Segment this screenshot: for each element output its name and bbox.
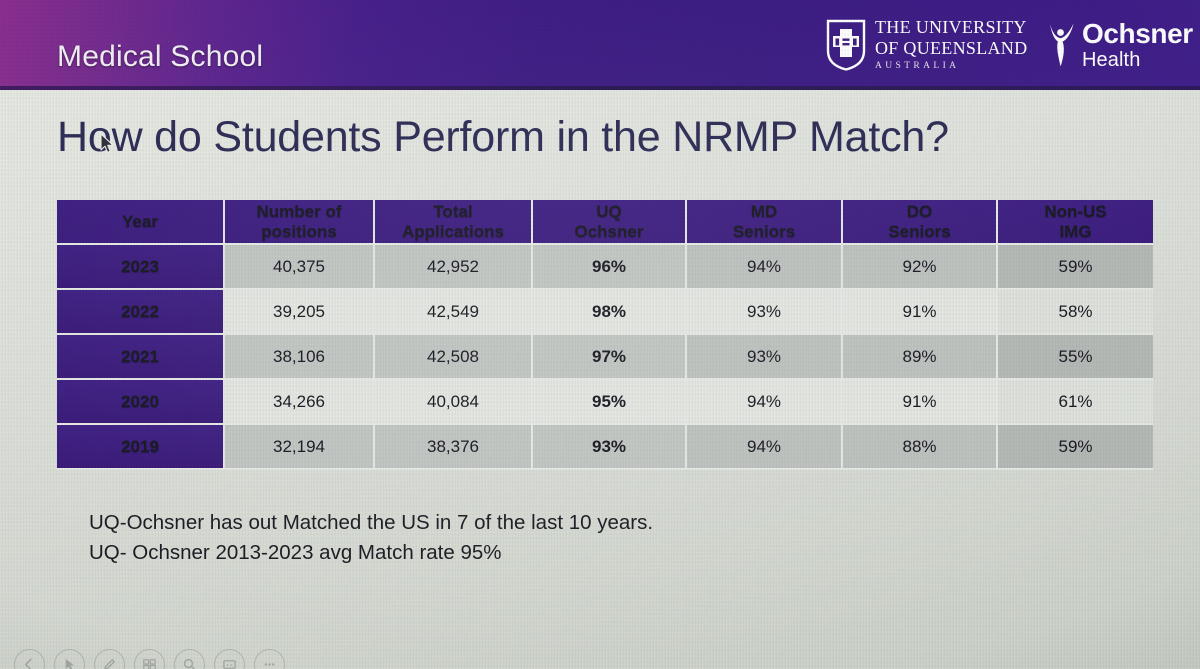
column-header-md-seniors-line2: Seniors — [691, 222, 837, 241]
table-row: 2020 34,266 40,084 95% 94% 91% 61% — [57, 380, 1153, 425]
column-header-uq-ochsner-line1: UQ — [537, 202, 681, 221]
ochsner-figure-icon — [1048, 22, 1076, 68]
caption-icon[interactable] — [214, 649, 245, 669]
column-header-non-us-img: Non-US IMG — [998, 200, 1153, 245]
cell-md-seniors: 94% — [687, 245, 843, 290]
ochsner-wordmark: Ochsner Health — [1082, 20, 1193, 70]
cell-year: 2022 — [57, 290, 225, 335]
column-header-uq-ochsner-line2: Ochsner — [537, 222, 681, 241]
presenter-toolbar[interactable] — [14, 649, 285, 669]
cell-non-us-img: 55% — [998, 335, 1153, 380]
column-header-do-seniors: DO Seniors — [843, 200, 998, 245]
cell-year: 2021 — [57, 335, 225, 380]
cell-do-seniors: 88% — [843, 425, 998, 470]
table-row: 2022 39,205 42,549 98% 93% 91% 58% — [57, 290, 1153, 335]
table-row: 2023 40,375 42,952 96% 94% 92% 59% — [57, 245, 1153, 290]
column-header-year-label: Year — [61, 212, 219, 231]
column-header-non-us-img-line1: Non-US — [1002, 202, 1149, 221]
cell-positions: 39,205 — [225, 290, 375, 335]
cell-do-seniors: 91% — [843, 380, 998, 425]
pen-icon[interactable] — [94, 649, 125, 669]
column-header-positions-line2: positions — [229, 222, 369, 241]
ochsner-logo: Ochsner Health — [1048, 20, 1193, 70]
cell-do-seniors: 89% — [843, 335, 998, 380]
table-row: 2021 38,106 42,508 97% 93% 89% 55% — [57, 335, 1153, 380]
column-header-applications: Total Applications — [375, 200, 533, 245]
uq-wordmark: THE UNIVERSITY OF QUEENSLAND AUSTRALIA — [875, 18, 1027, 72]
laser-pointer-icon[interactable] — [54, 649, 85, 669]
more-options-icon[interactable] — [254, 649, 285, 669]
cell-uq-ochsner: 97% — [533, 335, 687, 380]
footnote-line-1: UQ-Ochsner has out Matched the US in 7 o… — [89, 508, 653, 538]
slide-body: How do Students Perform in the NRMP Matc… — [0, 90, 1200, 669]
mouse-cursor-icon — [100, 133, 115, 155]
cell-uq-ochsner: 95% — [533, 380, 687, 425]
banner-title: Medical School — [57, 40, 263, 74]
table-row: 2019 32,194 38,376 93% 94% 88% 59% — [57, 425, 1153, 470]
cell-md-seniors: 94% — [687, 380, 843, 425]
cell-do-seniors: 91% — [843, 290, 998, 335]
column-header-do-seniors-line2: Seniors — [847, 222, 992, 241]
uq-country-label: AUSTRALIA — [875, 62, 1027, 72]
column-header-applications-line2: Applications — [379, 222, 527, 241]
cell-positions: 38,106 — [225, 335, 375, 380]
cell-positions: 34,266 — [225, 380, 375, 425]
cell-non-us-img: 58% — [998, 290, 1153, 335]
footnotes: UQ-Ochsner has out Matched the US in 7 o… — [89, 508, 653, 569]
cell-non-us-img: 59% — [998, 425, 1153, 470]
cell-non-us-img: 61% — [998, 380, 1153, 425]
column-header-positions-line1: Number of — [229, 202, 369, 221]
cell-uq-ochsner: 98% — [533, 290, 687, 335]
cell-positions: 32,194 — [225, 425, 375, 470]
uq-logo: THE UNIVERSITY OF QUEENSLAND AUSTRALIA — [826, 18, 1027, 72]
cell-uq-ochsner: 96% — [533, 245, 687, 290]
uq-line-1: THE UNIVERSITY — [875, 18, 1027, 36]
cell-applications: 42,952 — [375, 245, 533, 290]
zoom-icon[interactable] — [174, 649, 205, 669]
ochsner-subname: Health — [1082, 50, 1193, 70]
cell-md-seniors: 94% — [687, 425, 843, 470]
cell-positions: 40,375 — [225, 245, 375, 290]
nrmp-match-table: Year Number of positions Total Applicati… — [57, 200, 1153, 470]
column-header-uq-ochsner: UQ Ochsner — [533, 200, 687, 245]
column-header-positions: Number of positions — [225, 200, 375, 245]
cell-uq-ochsner: 93% — [533, 425, 687, 470]
uq-line-2: OF QUEENSLAND — [875, 39, 1027, 57]
slide-grid-icon[interactable] — [134, 649, 165, 669]
cell-applications: 42,549 — [375, 290, 533, 335]
uq-shield-icon — [826, 19, 866, 71]
cell-do-seniors: 92% — [843, 245, 998, 290]
cell-year: 2019 — [57, 425, 225, 470]
column-header-year: Year — [57, 200, 225, 245]
cell-md-seniors: 93% — [687, 290, 843, 335]
ochsner-name: Ochsner — [1082, 20, 1193, 48]
previous-slide-icon[interactable] — [14, 649, 45, 669]
cell-applications: 42,508 — [375, 335, 533, 380]
cell-year: 2020 — [57, 380, 225, 425]
table-header-row: Year Number of positions Total Applicati… — [57, 200, 1153, 245]
page-title: How do Students Perform in the NRMP Matc… — [57, 113, 949, 162]
cell-year: 2023 — [57, 245, 225, 290]
cell-applications: 40,084 — [375, 380, 533, 425]
column-header-applications-line1: Total — [379, 202, 527, 221]
column-header-md-seniors-line1: MD — [691, 202, 837, 221]
column-header-do-seniors-line1: DO — [847, 202, 992, 221]
column-header-md-seniors: MD Seniors — [687, 200, 843, 245]
cell-md-seniors: 93% — [687, 335, 843, 380]
cell-non-us-img: 59% — [998, 245, 1153, 290]
cell-applications: 38,376 — [375, 425, 533, 470]
column-header-non-us-img-line2: IMG — [1002, 222, 1149, 241]
slide-banner: Medical School THE UNIVERSITY OF QUEENSL… — [0, 0, 1200, 90]
footnote-line-2: UQ- Ochsner 2013-2023 avg Match rate 95% — [89, 538, 653, 568]
slide-photo: Medical School THE UNIVERSITY OF QUEENSL… — [0, 0, 1200, 669]
